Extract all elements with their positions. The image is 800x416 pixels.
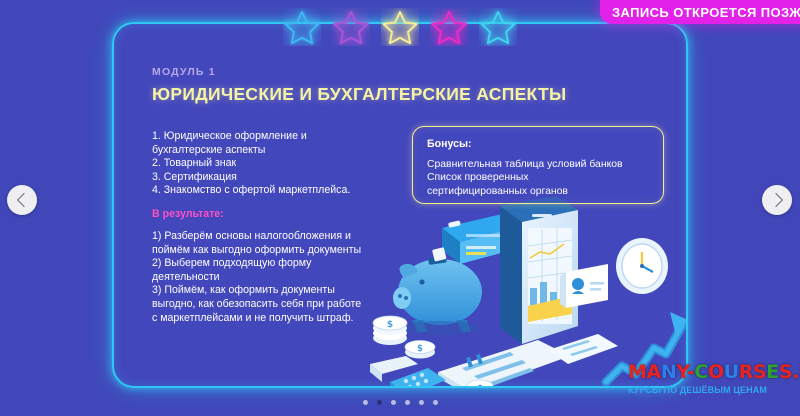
bonus-lines: Сравнительная таблица условий банковСпис… xyxy=(427,158,659,198)
module-card-inner: МОДУЛЬ 1 ЮРИДИЧЕСКИЕ И БУХГАЛТЕРСКИЕ АСП… xyxy=(114,24,686,386)
watermark: MANY-COURSES.RU КУРСЫ ПО ДЕШЁВЫМ ЦЕНАМ xyxy=(628,362,794,408)
smartphone-chart-icon xyxy=(500,196,578,344)
result-line: 3) Поймём, как оформить документы xyxy=(152,284,414,298)
watermark-subtitle: КУРСЫ ПО ДЕШЁВЫМ ЦЕНАМ xyxy=(628,385,794,395)
announcement-text: ЗАПИСЬ ОТКРОЕТСЯ ПОЗЖЕ xyxy=(612,5,800,20)
module-label: МОДУЛЬ 1 xyxy=(152,66,216,78)
topic-line: бухгалтерские аспекты xyxy=(152,144,420,158)
svg-text:$: $ xyxy=(477,383,483,388)
result-line: с маркетплейсами и не получить штраф. xyxy=(152,312,414,326)
results-list: 1) Разберём основы налогообложения ипойм… xyxy=(152,230,414,325)
result-heading: В результате: xyxy=(152,208,224,220)
watermark-letter: U xyxy=(724,361,739,383)
chevron-left-icon xyxy=(16,193,30,207)
calculator-icon xyxy=(390,368,446,388)
carousel-prev-button[interactable] xyxy=(7,185,37,215)
watermark-letter: R xyxy=(739,361,753,383)
announcement-banner: ЗАПИСЬ ОТКРОЕТСЯ ПОЗЖЕ xyxy=(600,0,800,24)
watermark-letter: O xyxy=(708,361,724,383)
watermark-letter: N xyxy=(661,361,677,383)
credit-card-icon xyxy=(442,214,520,264)
result-line: 2) Выберем подходящую форму xyxy=(152,257,414,271)
slide-stage: ЗАПИСЬ ОТКРОЕТСЯ ПОЗЖЕ МОДУЛЬ 1 ЮРИДИЧЕС… xyxy=(0,0,800,416)
watermark-letter: C xyxy=(694,361,708,383)
pagination-dot-4[interactable] xyxy=(405,400,410,405)
finance-illustration: $ $ xyxy=(370,196,688,388)
topic-line: 3. Сертификация xyxy=(152,171,420,185)
watermark-letter: S xyxy=(753,361,766,383)
document-icon: $ xyxy=(438,340,570,388)
module-card: МОДУЛЬ 1 ЮРИДИЧЕСКИЕ И БУХГАЛТЕРСКИЕ АСП… xyxy=(112,22,688,388)
pagination-dot-3[interactable] xyxy=(391,400,396,405)
bonus-line: Сравнительная таблица условий банков xyxy=(427,158,659,171)
result-line: деятельности xyxy=(152,271,414,285)
svg-text:$: $ xyxy=(417,344,423,354)
watermark-letter: E xyxy=(766,361,779,383)
clock-icon xyxy=(616,238,668,294)
report-sheet-icon xyxy=(548,334,618,364)
carousel-next-button[interactable] xyxy=(762,185,792,215)
module-title: ЮРИДИЧЕСКИЕ И БУХГАЛТЕРСКИЕ АСПЕКТЫ xyxy=(152,84,566,105)
watermark-letter: Y xyxy=(676,361,687,383)
bonus-line: Список проверенных xyxy=(427,171,659,184)
bonus-line: сертифицированных органов xyxy=(427,185,659,198)
chevron-right-icon xyxy=(768,193,782,207)
topics-list: 1. Юридическое оформление ибухгалтерские… xyxy=(152,130,420,198)
watermark-letter: . xyxy=(792,361,799,383)
topic-line: 2. Товарный знак xyxy=(152,157,420,171)
result-line: поймём как выгодно оформить документы xyxy=(152,244,414,258)
watermark-letter: M xyxy=(628,361,647,383)
result-line: выгодно, как обезопасить себя при работе xyxy=(152,298,414,312)
pagination-dot-5[interactable] xyxy=(419,400,424,405)
pagination-dot-1[interactable] xyxy=(363,400,368,405)
banknote-icon xyxy=(370,356,418,382)
watermark-letter: A xyxy=(647,361,661,383)
watermark-letter: S xyxy=(779,361,792,383)
watermark-title: MANY-COURSES.RU xyxy=(628,362,794,382)
profile-card-icon xyxy=(560,264,608,308)
result-line: 1) Разберём основы налогообложения и xyxy=(152,230,414,244)
topic-line: 1. Юридическое оформление и xyxy=(152,130,420,144)
pagination-dot-2[interactable] xyxy=(377,400,382,405)
topic-line: 4. Знакомство с офертой маркетплейса. xyxy=(152,184,420,198)
bonus-title: Бонусы: xyxy=(427,138,472,150)
bonus-box: Бонусы: Сравнительная таблица условий ба… xyxy=(412,126,664,204)
pagination-dot-6[interactable] xyxy=(433,400,438,405)
